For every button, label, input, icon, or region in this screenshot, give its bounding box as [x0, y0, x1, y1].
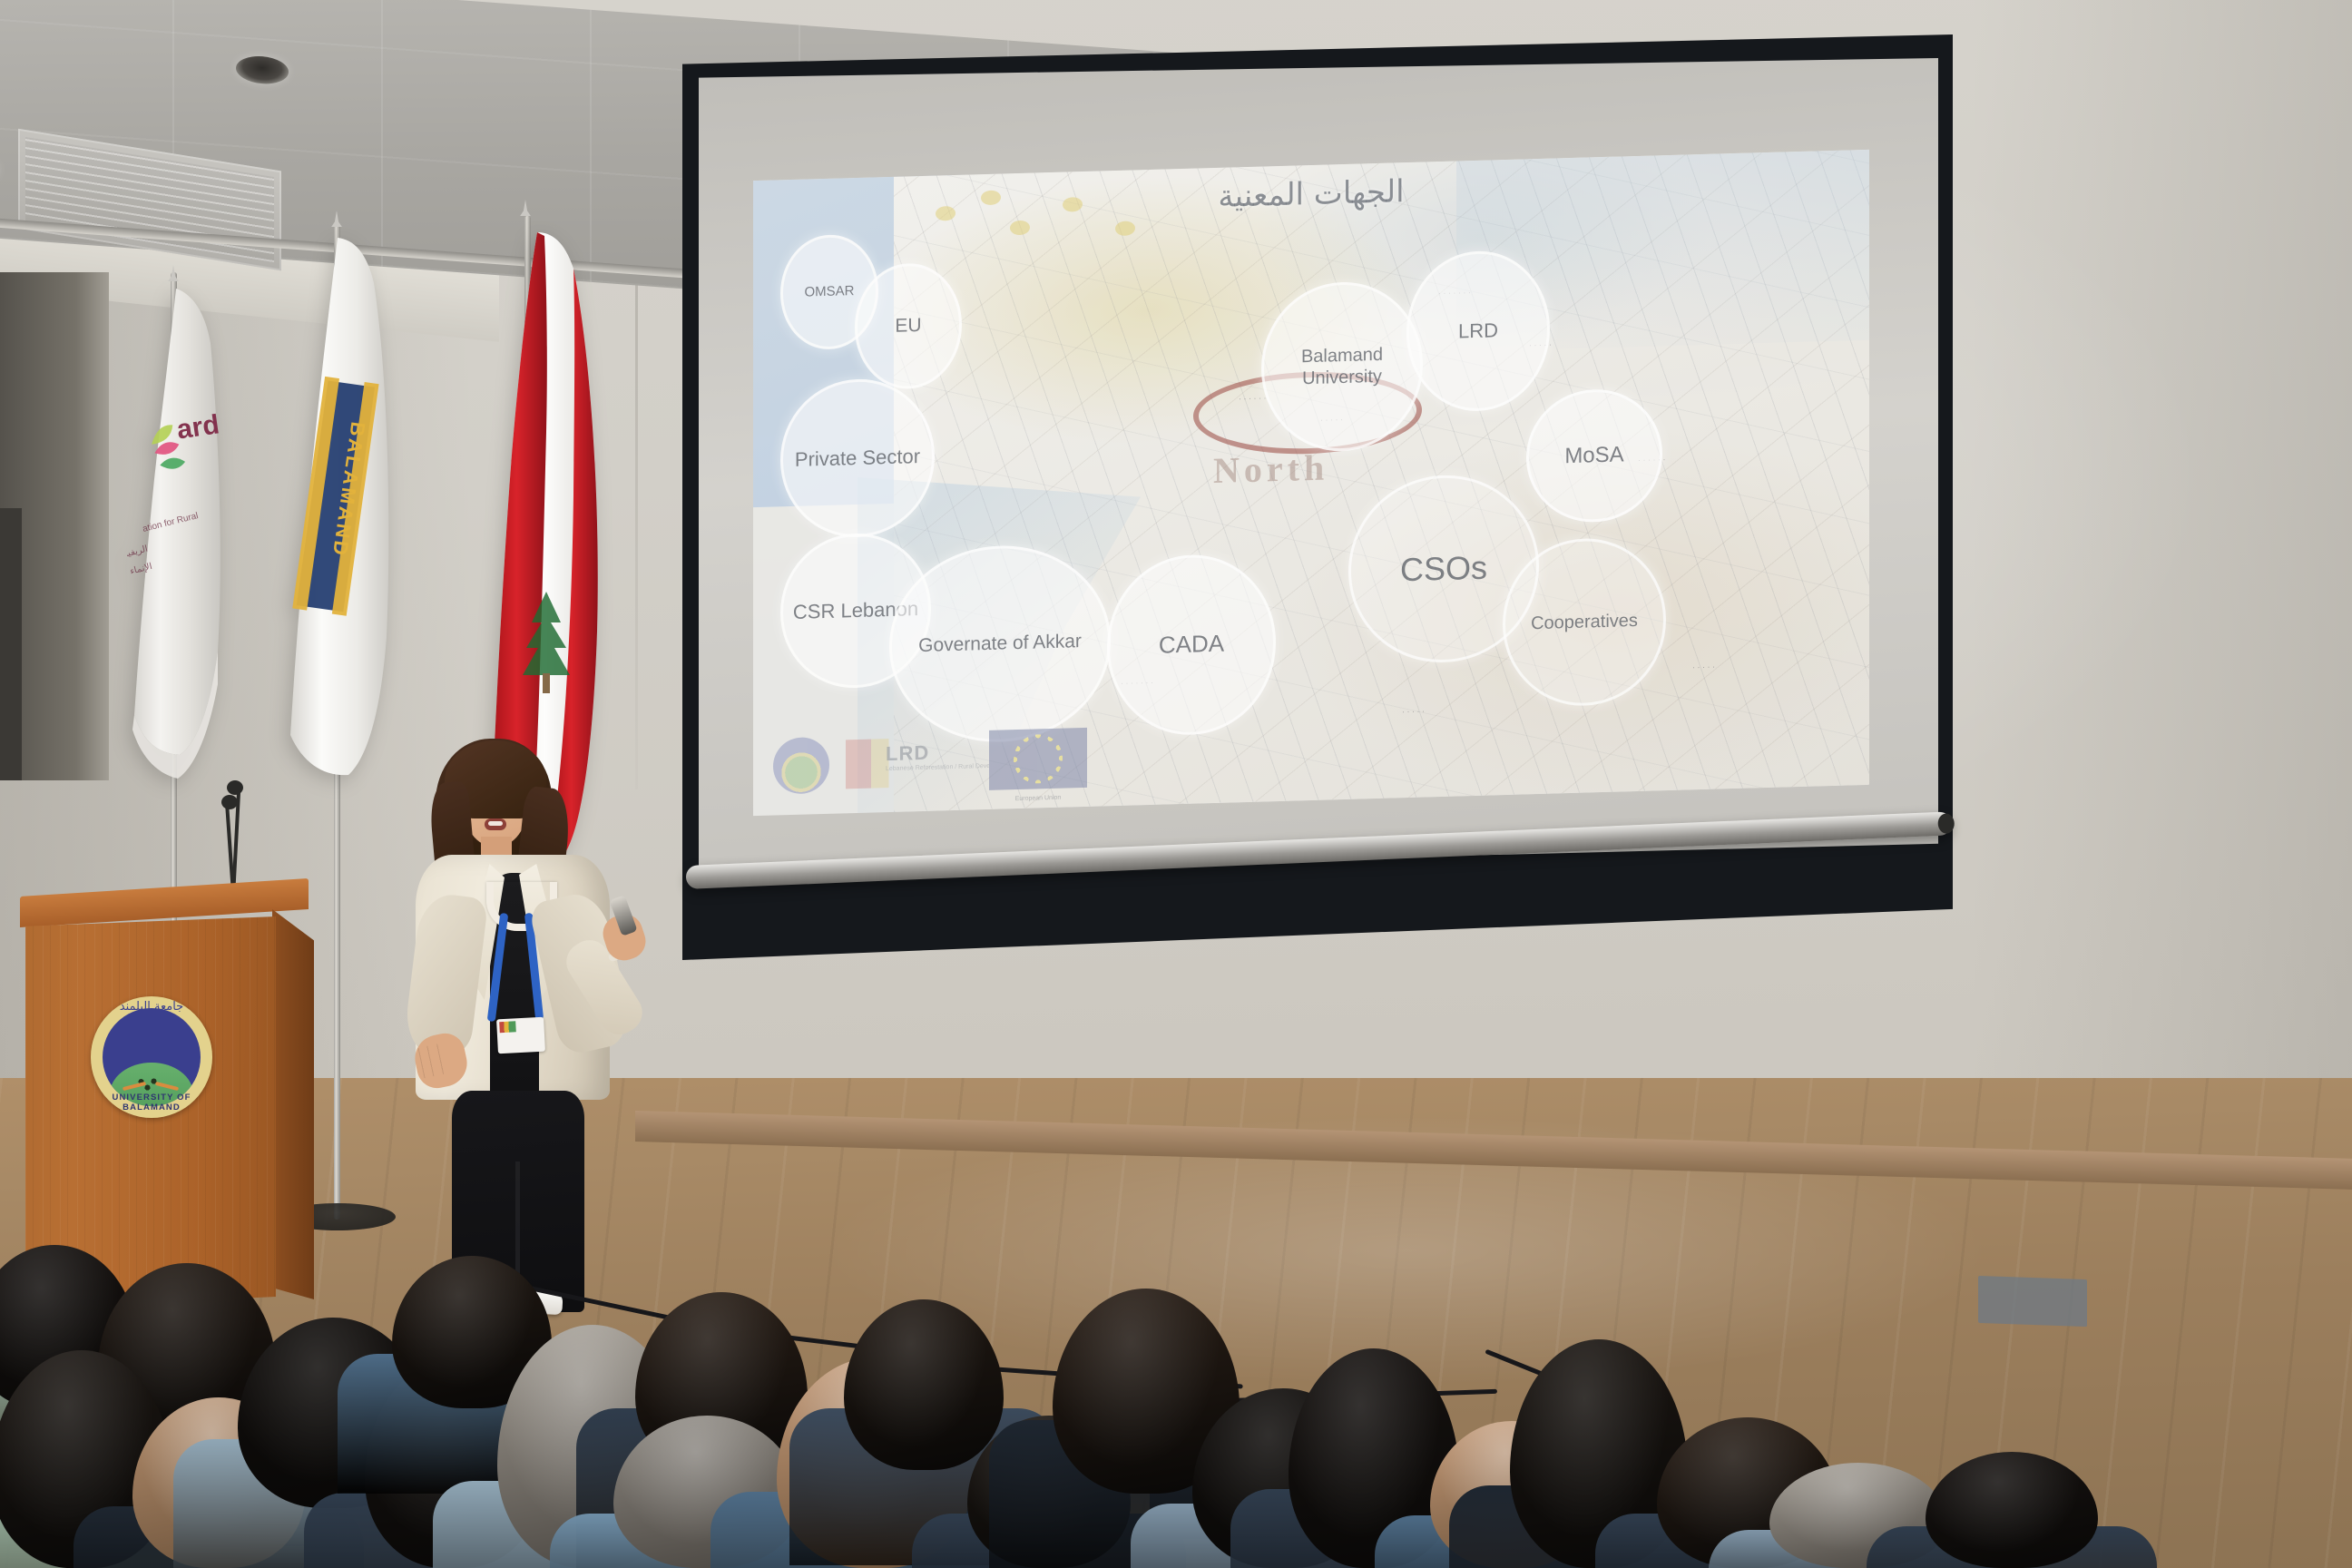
seal-arabic-text: جامعة البلمند: [91, 1000, 212, 1014]
svg-text:الريفية: الريفية: [127, 544, 149, 560]
stakeholder-bubble-label: Balamand University: [1265, 342, 1419, 391]
presenter-mouth: [485, 818, 506, 830]
audience-group: [0, 1060, 2352, 1568]
badge-name-text: [501, 1044, 503, 1049]
conference-photograph: North · · · · · · · · · · · · · · · · · …: [0, 0, 2352, 1568]
svg-text:ard: ard: [175, 409, 221, 445]
stakeholder-bubble-label: Cooperatives: [1531, 610, 1638, 635]
eu-flag-logo-icon: European Union: [989, 728, 1087, 790]
doorway-gap: [0, 508, 22, 780]
stakeholder-bubble-label: EU: [895, 314, 921, 338]
map-place-label: · · · · ·: [1692, 662, 1715, 672]
stakeholder-bubble-label: Governate of Akkar: [918, 630, 1082, 658]
balamand-flag-cloth: BALAMAND: [281, 238, 408, 873]
audience-member-head: [1926, 1452, 2098, 1568]
podium-microphone-icon: [227, 780, 243, 795]
balamand-seal-logo-icon: [773, 737, 829, 795]
ard-flag-cloth: ard ation for Rural الريفية الإنماء: [127, 289, 245, 869]
lrd-logo-text: LRD: [886, 741, 929, 766]
map-place-label: · · · · ·: [1402, 707, 1425, 717]
presenter-id-badge: [496, 1017, 545, 1054]
stakeholder-bubble-label: LRD: [1458, 318, 1498, 344]
stakeholder-bubble-label: Private Sector: [795, 445, 920, 473]
stakeholder-bubble-label: CSOs: [1400, 548, 1487, 591]
stakeholder-bubble-label: OMSAR: [804, 283, 854, 301]
wall-corner-line: [635, 227, 638, 789]
map-region-label: North: [1213, 446, 1328, 492]
stakeholder-bubble-label: MoSA: [1564, 442, 1623, 470]
projected-slide: North · · · · · · · · · · · · · · · · · …: [753, 150, 1869, 816]
slide-footer-logos: LRD Lebanese Reforestation / Rural Devel…: [773, 714, 1154, 808]
projection-screen: North · · · · · · · · · · · · · · · · · …: [682, 34, 1953, 960]
map-place-label: · · · · · ·: [1239, 393, 1267, 403]
lrd-logo-icon: LRD Lebanese Reforestation / Rural Devel…: [846, 736, 973, 789]
screen-surface: North · · · · · · · · · · · · · · · · · …: [699, 58, 1938, 875]
badge-logo-icon: [499, 1021, 516, 1033]
audience-member-head: [844, 1299, 1004, 1470]
stakeholder-bubble-label: CADA: [1159, 630, 1224, 661]
